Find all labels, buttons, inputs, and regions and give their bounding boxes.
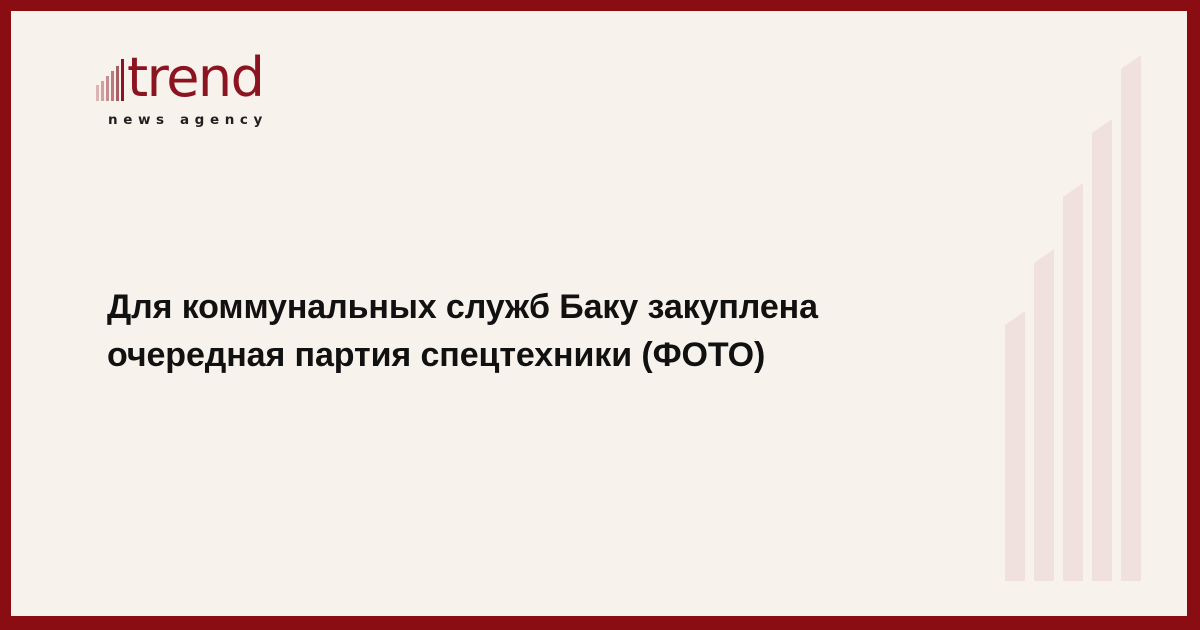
- logo-mark: trend: [96, 51, 516, 103]
- headline-title: Для коммунальных служб Баку закуплена оч…: [107, 283, 987, 380]
- logo-wordmark: trend: [127, 52, 263, 103]
- decoration-bar-5: [1121, 55, 1141, 581]
- logo-bar-1: [96, 85, 99, 101]
- card-canvas: trend news agency Для коммунальных служб…: [11, 11, 1187, 616]
- logo-bar-2: [101, 81, 104, 101]
- logo-tagline: news agency: [108, 112, 516, 128]
- decoration-bar-1: [1005, 311, 1025, 581]
- logo-bar-5: [116, 66, 119, 101]
- ascending-bars-decoration-icon: [1005, 11, 1165, 616]
- decoration-bar-4: [1092, 119, 1112, 581]
- logo-bar-6: [121, 59, 124, 101]
- trend-logo[interactable]: trend news agency: [96, 51, 516, 128]
- logo-bar-3: [106, 76, 109, 101]
- ascending-bars-icon: [96, 59, 126, 103]
- decoration-bar-3: [1063, 183, 1083, 581]
- share-card: trend news agency Для коммунальных служб…: [0, 0, 1200, 630]
- logo-bar-4: [111, 71, 114, 101]
- decoration-bar-2: [1034, 249, 1054, 581]
